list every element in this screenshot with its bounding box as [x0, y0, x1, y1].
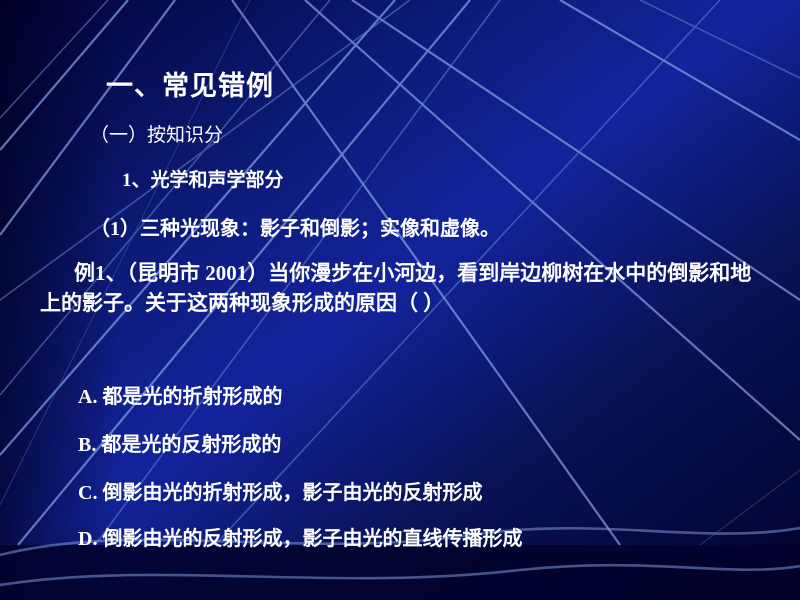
option-d: D. 倒影由光的反射形成，影子由光的直线传播形成 — [78, 522, 522, 551]
subtitle-level-1: （一）按知识分 — [90, 120, 223, 147]
option-c: C. 倒影由光的折射形成，影子由光的反射形成 — [78, 476, 482, 505]
slide-content: 一、常见错例 （一）按知识分 1、光学和声学部分 （1）三种光现象：影子和倒影；… — [0, 0, 800, 600]
presentation-slide: 一、常见错例 （一）按知识分 1、光学和声学部分 （1）三种光现象：影子和倒影；… — [0, 0, 800, 600]
subtitle-level-3: （1）三种光现象：影子和倒影；实像和虚像。 — [90, 212, 500, 241]
option-b: B. 都是光的反射形成的 — [78, 428, 281, 457]
question-text: 例1、（昆明市 2001）当你漫步在小河边，看到岸边柳树在水中的倒影和地上的影子… — [40, 258, 765, 318]
page-title: 一、常见错例 — [106, 64, 274, 103]
subtitle-level-2: 1、光学和声学部分 — [122, 165, 284, 192]
option-a: A. 都是光的折射形成的 — [78, 380, 282, 409]
